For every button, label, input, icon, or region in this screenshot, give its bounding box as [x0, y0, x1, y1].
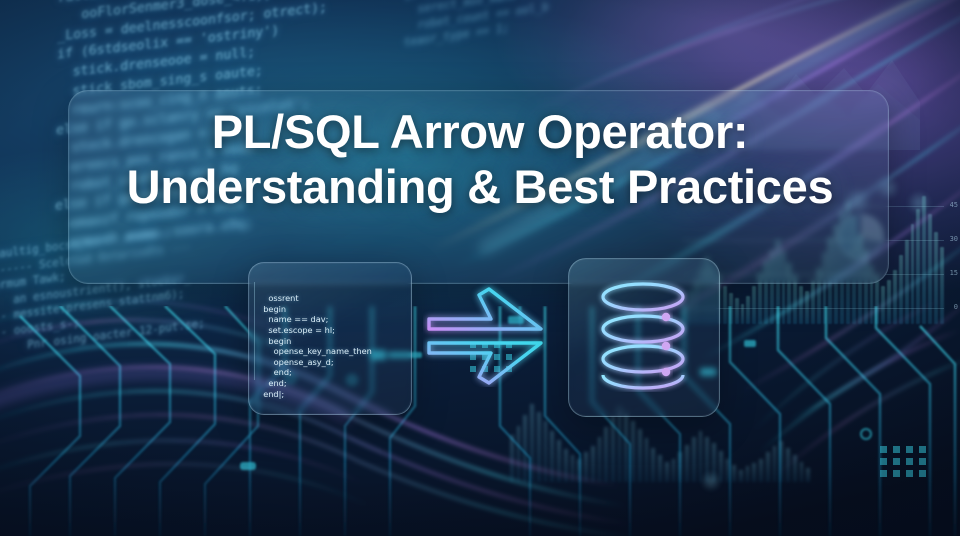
arrow-operator-icon [423, 283, 547, 387]
code-snippet-text: ossrent begin name == dav; set.escope = … [258, 293, 372, 398]
title-glass-panel [68, 90, 889, 284]
code-snippet: ossrent begin name == dav; set.escope = … [258, 272, 408, 420]
hero-banner: 45 30 15 0 ractid = oezsic-bo.sclertien … [0, 0, 960, 536]
code-gutter-line [254, 282, 255, 380]
database-icon [596, 280, 690, 392]
